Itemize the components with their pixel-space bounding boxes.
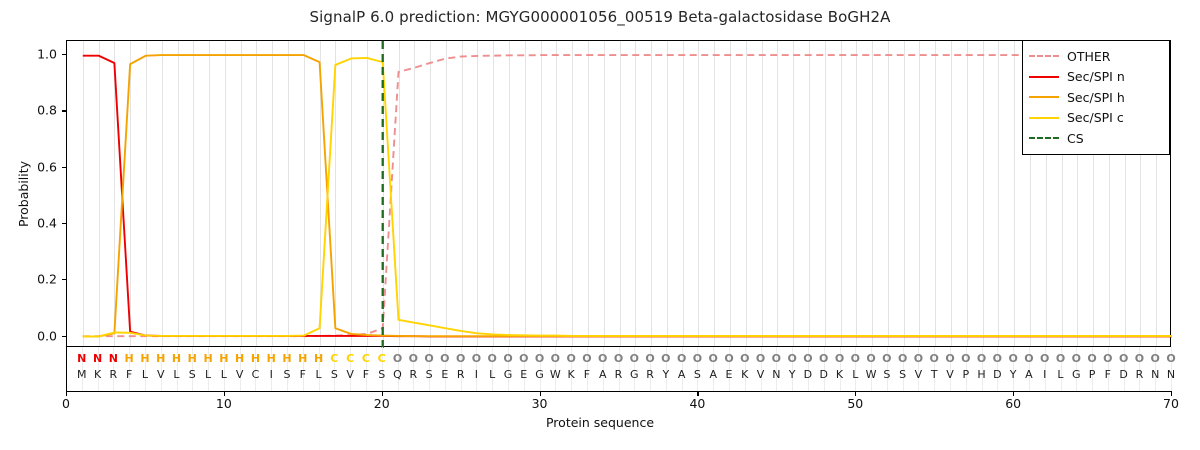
legend-item-sec-spi-n[interactable]: Sec/SPI n xyxy=(1029,67,1163,88)
sequence-gridline xyxy=(1013,347,1014,391)
sequence-gridline xyxy=(871,347,872,391)
y-axis-tick-label: 0.0 xyxy=(0,328,57,343)
legend-label: Sec/SPI c xyxy=(1067,110,1124,125)
sequence-gridline xyxy=(1076,347,1077,391)
legend-swatch xyxy=(1029,96,1059,98)
x-axis-tick-label: 40 xyxy=(689,396,705,411)
x-axis-tick-label: 20 xyxy=(374,396,390,411)
sequence-gridline xyxy=(840,347,841,391)
sequence-gridline xyxy=(161,347,162,391)
legend-item-cs[interactable]: CS xyxy=(1029,128,1163,149)
y-axis-tick-mark xyxy=(62,336,67,337)
series-curves xyxy=(67,41,1172,348)
sequence-gridline xyxy=(1155,347,1156,391)
sequence-gridline xyxy=(240,347,241,391)
sequence-gridline xyxy=(1045,347,1046,391)
series-line-sec-spi-c xyxy=(83,58,1172,337)
sequence-gridline xyxy=(334,347,335,391)
series-line-sec-spi-h xyxy=(83,55,1172,336)
sequence-gridline xyxy=(82,347,83,391)
legend-swatch xyxy=(1029,55,1059,57)
sequence-gridline xyxy=(682,347,683,391)
signalp-prediction-figure: SignalP 6.0 prediction: MGYG000001056_00… xyxy=(0,0,1200,450)
sequence-gridline xyxy=(1092,347,1093,391)
sequence-gridline xyxy=(855,347,856,391)
x-axis-tick-label: 60 xyxy=(1005,396,1021,411)
sequence-gridline xyxy=(761,347,762,391)
legend-swatch xyxy=(1029,117,1059,119)
x-axis-tick-label: 70 xyxy=(1163,396,1179,411)
sequence-gridline xyxy=(808,347,809,391)
sequence-gridline xyxy=(508,347,509,391)
sequence-gridline xyxy=(745,347,746,391)
sequence-gridline xyxy=(303,347,304,391)
legend: OTHERSec/SPI nSec/SPI hSec/SPI cCS xyxy=(1022,40,1170,155)
sequence-gridline xyxy=(1061,347,1062,391)
sequence-gridline xyxy=(666,347,667,391)
legend-item-other[interactable]: OTHER xyxy=(1029,46,1163,67)
sequence-gridline xyxy=(1108,347,1109,391)
sequence-gridline xyxy=(555,347,556,391)
legend-item-sec-spi-h[interactable]: Sec/SPI h xyxy=(1029,87,1163,108)
sequence-gridline xyxy=(918,347,919,391)
sequence-gridline xyxy=(98,347,99,391)
sequence-gridline xyxy=(366,347,367,391)
sequence-gridline xyxy=(224,347,225,391)
sequence-gridline xyxy=(603,347,604,391)
y-axis-tick-mark xyxy=(62,54,67,55)
y-axis-tick-mark xyxy=(62,110,67,111)
sequence-gridline xyxy=(461,347,462,391)
y-axis-tick-mark xyxy=(62,223,67,224)
sequence-gridline xyxy=(145,347,146,391)
sequence-gridline xyxy=(650,347,651,391)
sequence-gridline xyxy=(729,347,730,391)
sequence-gridline xyxy=(445,347,446,391)
sequence-gridline xyxy=(776,347,777,391)
sequence-gridline xyxy=(255,347,256,391)
sequence-gridline xyxy=(540,347,541,391)
sequence-gridline xyxy=(492,347,493,391)
sequence-gridline xyxy=(634,347,635,391)
legend-label: OTHER xyxy=(1067,49,1110,64)
sequence-gridline xyxy=(350,347,351,391)
sequence-gridline xyxy=(1029,347,1030,391)
sequence-gridline xyxy=(429,347,430,391)
sequence-gridline xyxy=(113,347,114,391)
sequence-gridline xyxy=(287,347,288,391)
y-axis-tick-mark xyxy=(62,167,67,168)
plot-area xyxy=(66,40,1171,347)
legend-swatch xyxy=(1029,137,1059,139)
sequence-gridline xyxy=(934,347,935,391)
sequence-panel-border xyxy=(66,347,67,392)
sequence-gridline xyxy=(997,347,998,391)
sequence-gridline xyxy=(271,347,272,391)
sequence-gridline xyxy=(382,347,383,391)
sequence-gridline xyxy=(950,347,951,391)
sequence-gridline xyxy=(587,347,588,391)
legend-label: CS xyxy=(1067,131,1084,146)
sequence-gridline xyxy=(476,347,477,391)
sequence-gridline xyxy=(966,347,967,391)
sequence-gridline xyxy=(1139,347,1140,391)
sequence-gridline xyxy=(398,347,399,391)
legend-label: Sec/SPI n xyxy=(1067,69,1125,84)
y-axis-tick-label: 0.2 xyxy=(0,272,57,287)
sequence-gridline xyxy=(824,347,825,391)
legend-item-sec-spi-c[interactable]: Sec/SPI c xyxy=(1029,108,1163,129)
chart-title: SignalP 6.0 prediction: MGYG000001056_00… xyxy=(0,8,1200,26)
sequence-gridline xyxy=(177,347,178,391)
sequence-gridline xyxy=(697,347,698,391)
sequence-gridline xyxy=(319,347,320,391)
legend-label: Sec/SPI h xyxy=(1067,90,1125,105)
sequence-gridline xyxy=(887,347,888,391)
y-axis-tick-label: 1.0 xyxy=(0,47,57,62)
sequence-gridline xyxy=(982,347,983,391)
legend-swatch xyxy=(1029,76,1059,78)
y-axis-tick-label: 0.8 xyxy=(0,103,57,118)
x-axis-tick-label: 0 xyxy=(62,396,70,411)
sequence-gridline xyxy=(208,347,209,391)
y-axis-label: Probability xyxy=(16,160,31,226)
sequence-gridline xyxy=(571,347,572,391)
x-axis-spine xyxy=(66,391,1171,392)
x-axis-tick-label: 50 xyxy=(847,396,863,411)
sequence-gridline xyxy=(619,347,620,391)
x-axis-label: Protein sequence xyxy=(0,415,1200,430)
sequence-gridline xyxy=(192,347,193,391)
sequence-gridline xyxy=(792,347,793,391)
series-line-sec-spi-n xyxy=(83,56,1172,337)
series-line-other xyxy=(83,55,1172,336)
sequence-gridline xyxy=(413,347,414,391)
sequence-gridline xyxy=(129,347,130,391)
x-axis-tick-label: 10 xyxy=(216,396,232,411)
sequence-gridline xyxy=(903,347,904,391)
x-axis-tick-label: 30 xyxy=(532,396,548,411)
y-axis-tick-mark xyxy=(62,279,67,280)
sequence-gridline xyxy=(1171,347,1172,391)
sequence-gridline xyxy=(713,347,714,391)
sequence-gridline xyxy=(1124,347,1125,391)
sequence-gridline xyxy=(524,347,525,391)
